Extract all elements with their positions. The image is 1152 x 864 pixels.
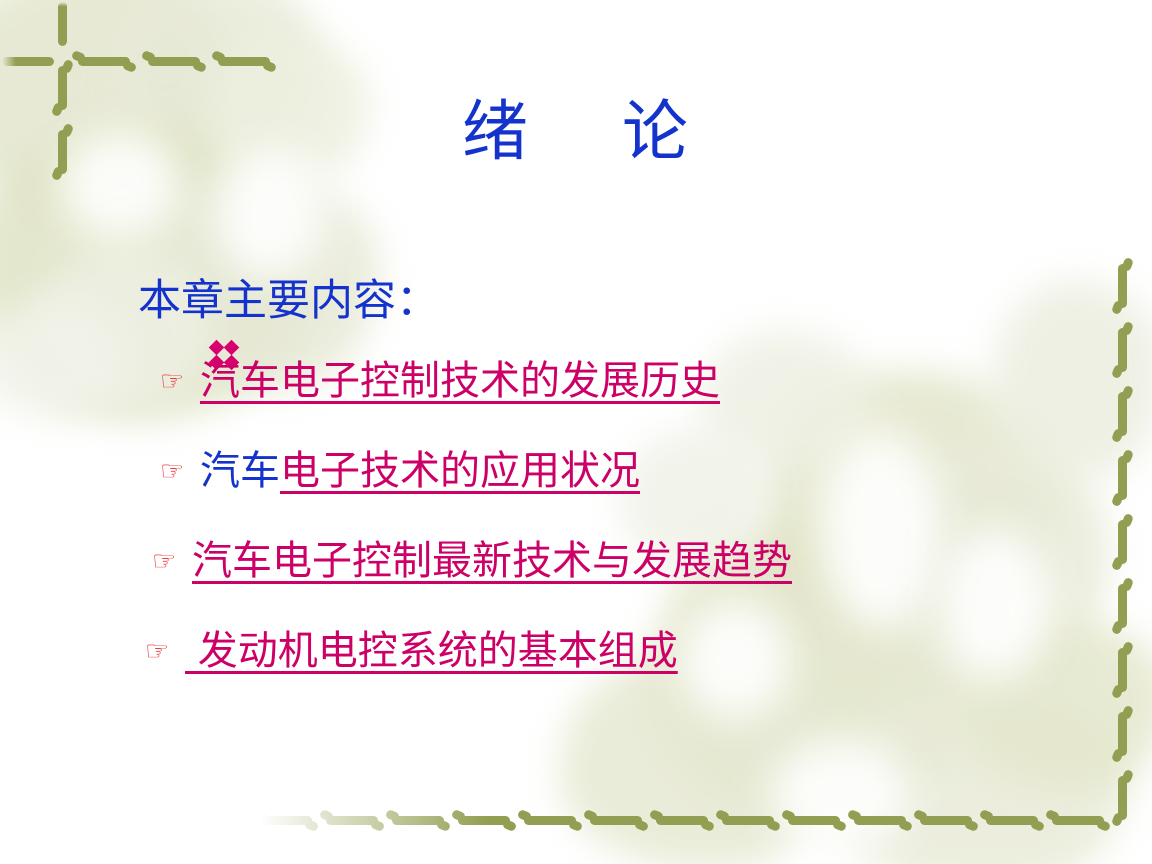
main-bullet-row: 本章主要内容： [0, 278, 1152, 325]
list-item[interactable]: ☞ 汽车 电子技术的应用状况 [0, 449, 1152, 493]
bamboo-horizontal-rule-bottom [260, 810, 1140, 834]
presentation-slide: 绪 论 本章主要内容： ☞ 汽车电子控制技 [0, 0, 1152, 864]
sub-item-link[interactable]: 汽车电子控制最新技术与发展趋势 [192, 539, 792, 583]
list-item[interactable]: ☞ 汽车电子控制最新技术与发展趋势 [0, 539, 1152, 583]
list-item[interactable]: ☞ 发动机电控系统的基本组成 [0, 629, 1152, 673]
sub-item-link[interactable]: 电子技术的应用状况 [280, 449, 640, 493]
list-item[interactable]: ☞ 汽车电子控制技术的发展历史 [0, 359, 1152, 403]
sub-item-link[interactable]: 发动机电控系统的基本组成 [185, 629, 678, 673]
sub-item-link[interactable]: 汽车电子控制技术的发展历史 [200, 359, 720, 403]
pointing-hand-icon: ☞ [152, 548, 192, 575]
diamond-bullet-icon [98, 288, 132, 322]
slide-title: 绪 论 [0, 96, 1152, 169]
main-bullet-label: 本章主要内容： [138, 278, 439, 325]
slide-body: 本章主要内容： ☞ 汽车电子控制技术的发展历史 ☞ 汽车 电子技术的应用状况 ☞… [0, 278, 1152, 719]
pointing-hand-icon: ☞ [145, 638, 185, 665]
pointing-hand-icon: ☞ [160, 458, 200, 485]
pointing-hand-icon: ☞ [160, 368, 200, 395]
sub-item-lead-text: 汽车 [200, 449, 280, 493]
